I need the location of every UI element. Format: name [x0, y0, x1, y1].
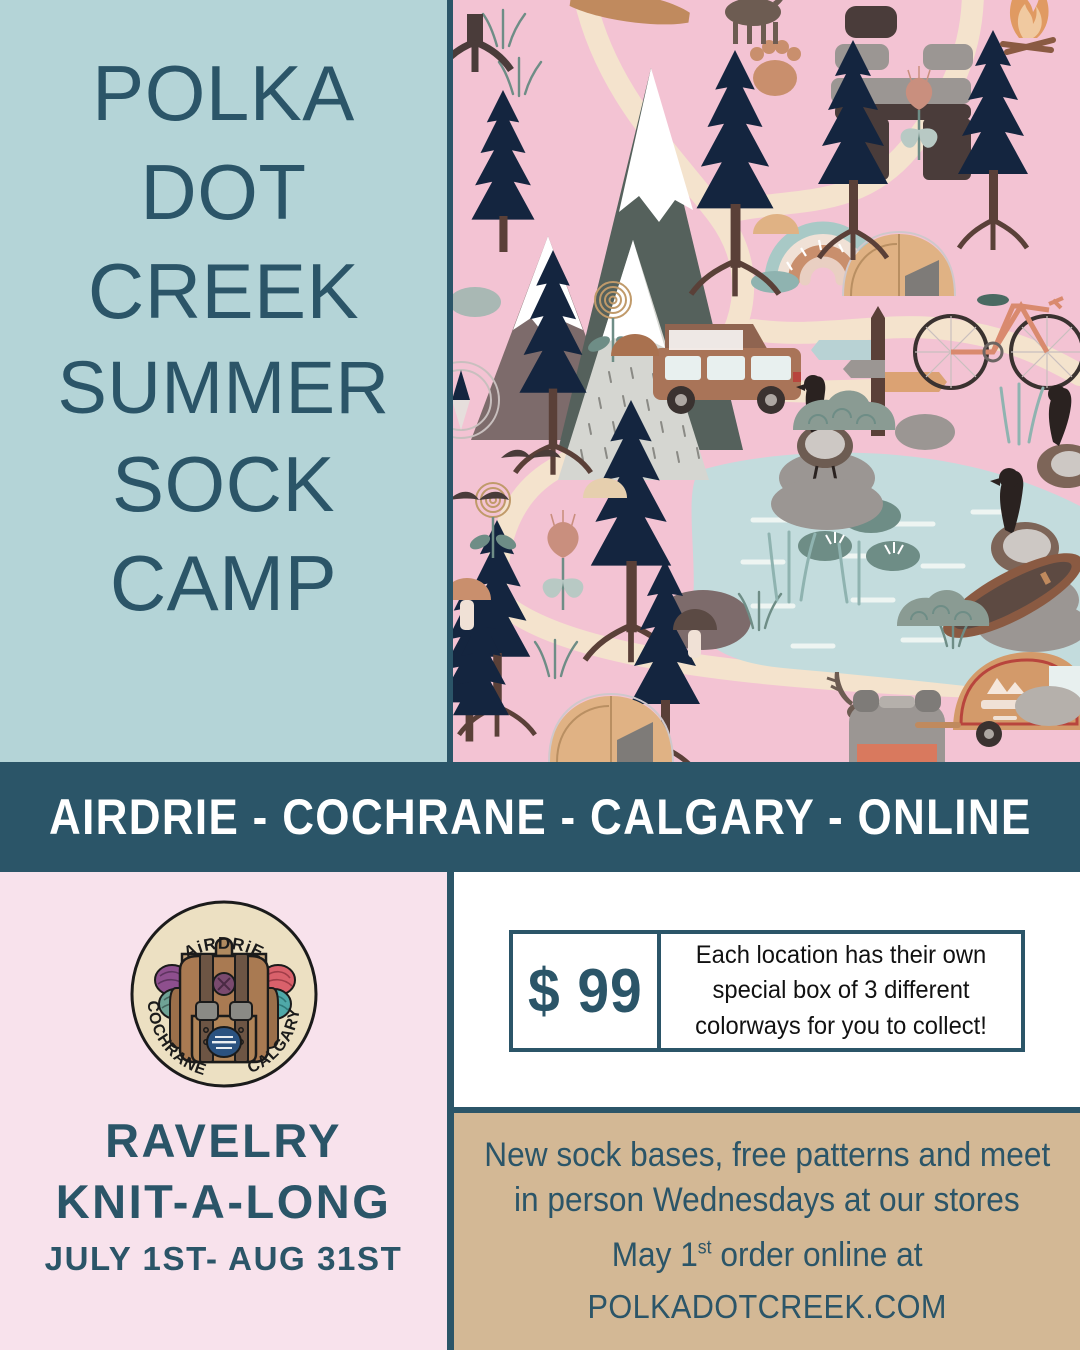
vertical-divider-bottom: [447, 872, 454, 1350]
website-url: POLKADOTCREEK.COM: [587, 1285, 946, 1329]
locations-banner-text: AIRDRIE - COCHRANE - CALGARY - ONLINE: [49, 788, 1032, 846]
camping-illustration: [453, 0, 1080, 762]
title-panel: POLKA DOT CREEK SUMMER SOCK CAMP: [0, 0, 447, 762]
info-panel: New sock bases, free patterns and meet i…: [454, 1107, 1080, 1350]
info-date-post: order online at: [711, 1236, 922, 1274]
price-amount: $ 99: [528, 956, 643, 1027]
price-desc-line-1: Each location has their own: [696, 938, 986, 974]
price-box: $ 99 Each location has their own special…: [509, 930, 1025, 1052]
ravelry-panel: AiRDRiE COCHRANE CALGARY RAVELRY KNIT-A-…: [0, 872, 447, 1350]
ravelry-text-block: RAVELRY KNIT-A-LONG JULY 1ST- AUG 31ST: [0, 1112, 447, 1278]
poster-root: POLKA DOT CREEK SUMMER SOCK CAMP: [0, 0, 1080, 1350]
ravelry-title: RAVELRY: [0, 1112, 447, 1171]
backpack-logo-badge: AiRDRiE COCHRANE CALGARY: [126, 896, 322, 1092]
title-line-4: SUMMER: [58, 341, 390, 435]
price-panel: $ 99 Each location has their own special…: [454, 872, 1080, 1107]
info-line-1: New sock bases, free patterns and meet: [484, 1133, 1050, 1178]
title-line-6: CAMP: [110, 534, 337, 633]
locations-banner: AIRDRIE - COCHRANE - CALGARY - ONLINE: [0, 762, 1080, 872]
info-line-3: May 1st order online at: [612, 1233, 923, 1278]
price-amount-cell: $ 99: [513, 934, 661, 1048]
price-description: Each location has their own special box …: [670, 934, 1012, 1048]
price-desc-line-3: colorways for you to collect!: [695, 1009, 987, 1045]
info-date-pre: May 1: [612, 1236, 698, 1274]
price-desc-line-2: special box of 3 different: [712, 973, 969, 1009]
ravelry-dates: JULY 1ST- AUG 31ST: [0, 1240, 447, 1278]
info-date-suffix: st: [698, 1238, 712, 1259]
title-line-2: DOT: [140, 143, 306, 242]
info-line-2: in person Wednesdays at our stores: [514, 1178, 1020, 1223]
title-line-1: POLKA: [92, 44, 355, 143]
title-line-3: CREEK: [88, 242, 359, 341]
knit-a-long-title: KNIT-A-LONG: [0, 1171, 447, 1232]
title-line-5: SOCK: [112, 435, 335, 534]
